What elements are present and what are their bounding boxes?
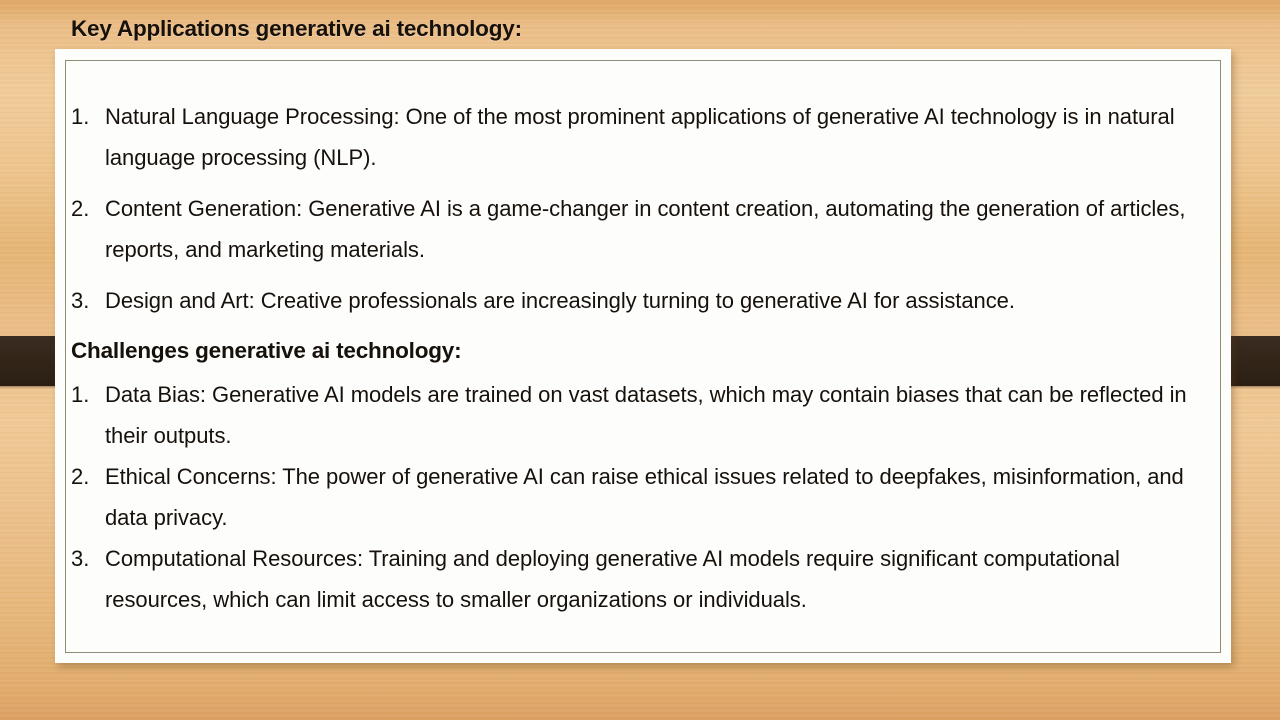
list-item-number: 3. bbox=[71, 538, 105, 579]
list-item: 3. Design and Art: Creative professional… bbox=[71, 280, 1221, 321]
challenges-list: 1. Data Bias: Generative AI models are t… bbox=[71, 374, 1221, 620]
list-item-number: 2. bbox=[71, 456, 105, 497]
list-item-number: 1. bbox=[71, 374, 105, 415]
body-text-layer: 1. Natural Language Processing: One of t… bbox=[71, 96, 1221, 620]
subsection-title: Challenges generative ai technology: bbox=[71, 330, 1221, 371]
list-item-text: Content Generation: Generative AI is a g… bbox=[105, 188, 1221, 270]
applications-list: 1. Natural Language Processing: One of t… bbox=[71, 96, 1221, 321]
list-item: 1. Natural Language Processing: One of t… bbox=[71, 96, 1221, 178]
list-item: 2. Content Generation: Generative AI is … bbox=[71, 188, 1221, 270]
list-item-text: Design and Art: Creative professionals a… bbox=[105, 280, 1221, 321]
list-item: 2. Ethical Concerns: The power of genera… bbox=[71, 456, 1221, 538]
list-item: 3. Computational Resources: Training and… bbox=[71, 538, 1221, 620]
list-item-text: Natural Language Processing: One of the … bbox=[105, 96, 1221, 178]
list-item-number: 1. bbox=[71, 96, 105, 137]
list-item: 1. Data Bias: Generative AI models are t… bbox=[71, 374, 1221, 456]
list-item-text: Data Bias: Generative AI models are trai… bbox=[105, 374, 1221, 456]
list-item-text: Computational Resources: Training and de… bbox=[105, 538, 1221, 620]
page-title: Key Applications generative ai technolog… bbox=[71, 16, 522, 42]
list-item-text: Ethical Concerns: The power of generativ… bbox=[105, 456, 1221, 538]
list-item-number: 2. bbox=[71, 188, 105, 229]
list-item-number: 3. bbox=[71, 280, 105, 321]
slide-root: Key Applications generative ai technolog… bbox=[0, 0, 1280, 720]
